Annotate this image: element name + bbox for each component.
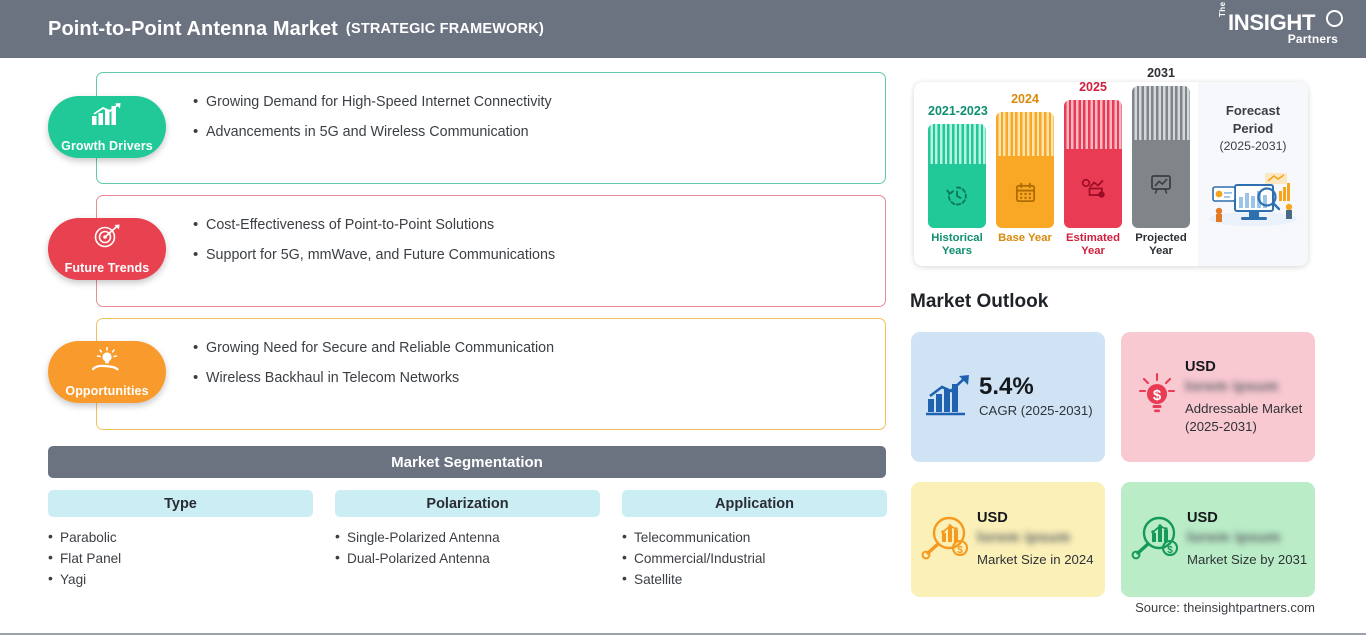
bar-column	[996, 112, 1054, 228]
list-item: Parabolic	[48, 527, 313, 548]
svg-text:$: $	[1153, 387, 1162, 404]
growth-drivers-panel: Growing Demand for High-Speed Internet C…	[96, 72, 886, 184]
lightbulb-hand-icon	[90, 347, 124, 378]
badge-label: Growth Drivers	[61, 139, 153, 153]
bar-year: 2024	[996, 92, 1054, 106]
insight-partners-logo: The INSIGHT Partners	[1216, 8, 1346, 50]
card-body: USD lorem ipsum Addressable Market (2025…	[1179, 359, 1315, 435]
bar-solid	[1132, 140, 1190, 228]
list-item: Yagi	[48, 569, 313, 590]
bar-column	[1064, 100, 1122, 228]
analytics-dashboard-illustration	[1198, 167, 1308, 232]
infographic-page: Point-to-Point Antenna Market (STRATEGIC…	[0, 0, 1366, 635]
segmentation-column-polarization: Polarization Single-Polarized Antenna Du…	[335, 490, 600, 569]
bar-solid	[996, 156, 1054, 228]
bar-caption: Historical Years	[922, 228, 992, 259]
column-list: Telecommunication Commercial/Industrial …	[622, 527, 887, 590]
list-item: Cost-Effectiveness of Point-to-Point Sol…	[193, 217, 885, 235]
source-attribution: Source: theinsightpartners.com	[1135, 600, 1315, 615]
bar-caption: Base Year	[990, 228, 1060, 245]
list-item: Telecommunication	[622, 527, 887, 548]
cagr-card[interactable]: 5.4% CAGR (2025-2031)	[911, 332, 1105, 462]
bar-caption: Projected Year	[1126, 228, 1196, 259]
presentation-chart-icon	[1149, 173, 1173, 195]
bar-stripe	[1132, 86, 1190, 140]
card-body: USD lorem ipsum Market Size by 2031	[1181, 510, 1307, 568]
list-item: Wireless Backhaul in Telecom Networks	[193, 370, 885, 388]
market-segmentation-header: Market Segmentation	[48, 446, 886, 478]
column-list: Parabolic Flat Panel Yagi	[48, 527, 313, 590]
page-title: Point-to-Point Antenna Market	[48, 18, 338, 41]
card-body: 5.4% CAGR (2025-2031)	[973, 374, 1093, 420]
list-item: Single-Polarized Antenna	[335, 527, 600, 548]
growth-drivers-list: Growing Demand for High-Speed Internet C…	[193, 73, 885, 142]
future-trends-list: Cost-Effectiveness of Point-to-Point Sol…	[193, 196, 885, 265]
opportunities-panel: Growing Need for Secure and Reliable Com…	[96, 318, 886, 430]
logo-circle-icon	[1326, 10, 1343, 27]
currency-label: USD	[1185, 359, 1315, 375]
page-subtitle: (STRATEGIC FRAMEWORK)	[346, 21, 544, 37]
card-label: Market Size by 2031	[1187, 551, 1307, 568]
card-label: Market Size in 2024	[977, 551, 1094, 568]
blurred-value: lorem ipsum	[977, 529, 1071, 546]
magnifier-chart-dollar-icon: $	[1131, 514, 1181, 565]
growth-drivers-badge[interactable]: Growth Drivers	[48, 96, 166, 158]
badge-label: Future Trends	[65, 261, 150, 275]
logo-the-text: The	[1218, 2, 1227, 17]
market-outlook-title: Market Outlook	[910, 291, 1048, 313]
forecast-period-card: 2021-2023 Historical Years 2024	[914, 82, 1308, 266]
magnifier-chart-dollar-icon: $	[921, 514, 971, 565]
logo-partners-text: Partners	[1288, 32, 1338, 46]
list-item: Advancements in 5G and Wireless Communic…	[193, 124, 885, 142]
lightbulb-dollar-icon: $	[1135, 372, 1179, 423]
currency-label: USD	[977, 510, 1094, 526]
calendar-icon	[1014, 181, 1037, 204]
bar-caption: Estimated Year	[1058, 228, 1128, 259]
forecast-chart-icon	[1080, 177, 1106, 199]
page-header: Point-to-Point Antenna Market (STRATEGIC…	[0, 0, 1366, 58]
list-item: Satellite	[622, 569, 887, 590]
badge-label: Opportunities	[65, 384, 148, 398]
list-item: Growing Need for Secure and Reliable Com…	[193, 340, 885, 358]
list-item: Dual-Polarized Antenna	[335, 548, 600, 569]
future-trends-badge[interactable]: Future Trends	[48, 218, 166, 280]
opportunities-badge[interactable]: Opportunities	[48, 341, 166, 403]
currency-label: USD	[1187, 510, 1307, 526]
future-trends-panel: Cost-Effectiveness of Point-to-Point Sol…	[96, 195, 886, 307]
bar-stripe	[996, 112, 1054, 156]
blurred-value: lorem ipsum	[1185, 378, 1279, 395]
cagr-label: CAGR (2025-2031)	[979, 402, 1093, 419]
bar-stripe	[1064, 100, 1122, 149]
target-dart-icon	[92, 224, 122, 253]
forecast-bars: 2021-2023 Historical Years 2024	[928, 82, 1136, 266]
list-item: Growing Demand for High-Speed Internet C…	[193, 94, 885, 112]
svg-text:$: $	[1167, 545, 1173, 556]
cagr-value: 5.4%	[979, 374, 1093, 399]
column-list: Single-Polarized Antenna Dual-Polarized …	[335, 527, 600, 569]
list-item: Commercial/Industrial	[622, 548, 887, 569]
list-item: Support for 5G, mmWave, and Future Commu…	[193, 247, 885, 265]
clock-history-icon	[945, 184, 969, 208]
addressable-market-card[interactable]: $ USD lorem ipsum Addressable Market (20…	[1121, 332, 1315, 462]
forecast-title-line1: Forecast	[1198, 102, 1308, 120]
bar-column	[1132, 86, 1190, 228]
bar-solid	[928, 164, 986, 228]
bar-year: 2021-2023	[928, 104, 986, 118]
bar-chart-growth-icon	[90, 102, 124, 131]
blurred-value: lorem ipsum	[1187, 529, 1281, 546]
forecast-period-summary: Forecast Period (2025-2031)	[1198, 82, 1308, 266]
segmentation-column-application: Application Telecommunication Commercial…	[622, 490, 887, 590]
bar-chart-arrow-icon	[925, 374, 973, 421]
column-title: Polarization	[335, 490, 600, 517]
column-title: Application	[622, 490, 887, 517]
list-item: Flat Panel	[48, 548, 313, 569]
market-size-2031-card[interactable]: $ USD lorem ipsum Market Size by 2031	[1121, 482, 1315, 597]
svg-text:$: $	[957, 545, 963, 556]
bar-stripe	[928, 124, 986, 164]
bar-year: 2025	[1064, 80, 1122, 94]
forecast-range: (2025-2031)	[1198, 139, 1308, 153]
column-title: Type	[48, 490, 313, 517]
bar-year: 2031	[1132, 66, 1190, 80]
card-label: Addressable Market (2025-2031)	[1185, 400, 1315, 435]
forecast-title-line2: Period	[1198, 120, 1308, 138]
card-body: USD lorem ipsum Market Size in 2024	[971, 510, 1094, 568]
segmentation-column-type: Type Parabolic Flat Panel Yagi	[48, 490, 313, 590]
bar-column	[928, 124, 986, 228]
opportunities-list: Growing Need for Secure and Reliable Com…	[193, 319, 885, 388]
market-size-2024-card[interactable]: $ USD lorem ipsum Market Size in 2024	[911, 482, 1105, 597]
bar-solid	[1064, 149, 1122, 228]
